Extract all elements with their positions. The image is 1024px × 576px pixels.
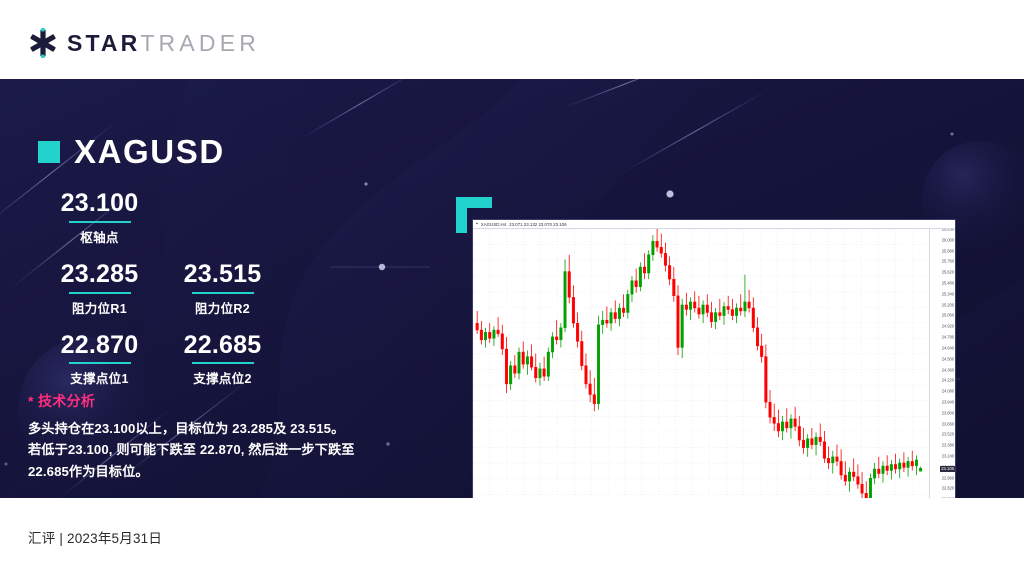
- y-axis-tick: 22.820: [942, 486, 954, 491]
- s2-value: 22.685: [161, 331, 284, 360]
- symbol-heading: XAGUSD: [38, 135, 225, 168]
- y-axis-tick: 24.920: [942, 324, 954, 329]
- y-axis-tick: 25.480: [942, 281, 954, 286]
- y-axis-tick: 24.080: [942, 389, 954, 394]
- analysis-line-3: 22.685作为目标位。: [28, 461, 428, 482]
- chart-ohlc-label: 23.071 23.132 23.070 23.106: [509, 222, 566, 227]
- y-axis-tick: 23.240: [942, 453, 954, 458]
- analysis-line-1: 多头持仓在23.100以上，目标位为 23.285及 23.515。: [28, 418, 428, 439]
- y-axis-tick: 24.780: [942, 335, 954, 340]
- pivot-levels-grid: 23.100 枢轴点 23.285 阻力位R1 23.515 阻力位R2: [38, 189, 328, 401]
- level-support-1: 22.870 支撑点位1: [38, 331, 161, 388]
- level-support-2: 22.685 支撑点位2: [161, 331, 284, 388]
- level-resistance-1: 23.285 阻力位R1: [38, 260, 161, 317]
- y-axis-tick: 24.360: [942, 367, 954, 372]
- chart-plot-area[interactable]: [473, 229, 929, 498]
- brand-wordmark: STARTRADER: [67, 32, 260, 55]
- footer-caption: 汇评 | 2023年5月31日: [28, 527, 162, 547]
- page-header: STARTRADER: [0, 0, 1024, 79]
- y-axis-tick: 26.250: [942, 229, 954, 232]
- page-footer: 汇评 | 2023年5月31日: [0, 498, 1024, 576]
- r2-underline: [192, 292, 254, 294]
- y-axis-tick: 24.220: [942, 378, 954, 383]
- brand-name-primary: STAR: [67, 30, 140, 56]
- chart-symbol-label: XAGUSD,H4: [481, 222, 506, 227]
- brand-logo[interactable]: STARTRADER: [28, 28, 260, 58]
- y-axis-tick: 24.640: [942, 345, 954, 350]
- y-axis-tick: 23.660: [942, 421, 954, 426]
- y-axis-tick: 23.520: [942, 432, 954, 437]
- page-title: XAGUSD: [74, 135, 225, 168]
- s2-label: 支撑点位2: [161, 368, 284, 387]
- technical-analysis-block: * 技术分析 多头持仓在23.100以上，目标位为 23.285及 23.515…: [28, 391, 428, 482]
- chart-window[interactable]: ▪ XAGUSD,H4 23.071 23.132 23.070 23.106 …: [472, 219, 956, 498]
- r1-value: 23.285: [38, 260, 161, 289]
- pivot-row: 23.100 枢轴点: [38, 189, 328, 260]
- level-resistance-2: 23.515 阻力位R2: [161, 260, 284, 317]
- y-axis-tick: 23.940: [942, 399, 954, 404]
- current-price-tag: 23.106: [940, 466, 955, 472]
- y-axis-tick: 25.880: [942, 248, 954, 253]
- y-axis-tick: 22.960: [942, 475, 954, 480]
- pivot-label: 枢轴点: [38, 227, 161, 246]
- pivot-underline: [69, 221, 131, 223]
- asterisk-star-icon: [28, 28, 58, 58]
- chart-bullet-icon: ▪: [476, 222, 478, 227]
- y-axis-tick: 25.060: [942, 313, 954, 318]
- technical-analysis-title: * 技术分析: [28, 391, 428, 411]
- symbol-marker-square: [38, 141, 60, 163]
- y-axis-tick: 25.340: [942, 291, 954, 296]
- candlestick-series: [473, 229, 929, 498]
- y-axis-tick: 25.760: [942, 259, 954, 264]
- r1-label: 阻力位R1: [38, 298, 161, 317]
- y-axis-tick: 23.800: [942, 410, 954, 415]
- s2-underline: [192, 362, 254, 364]
- y-axis-tick: 25.200: [942, 302, 954, 307]
- brand-name-secondary: TRADER: [140, 30, 260, 56]
- y-axis-tick: 26.000: [942, 237, 954, 242]
- main-panel: XAGUSD 23.100 枢轴点 23.285 阻力位R1 23.515: [0, 79, 1024, 498]
- technical-analysis-body: 多头持仓在23.100以上，目标位为 23.285及 23.515。 若低于23…: [28, 418, 428, 482]
- y-axis-tick: 24.500: [942, 356, 954, 361]
- chart-titlebar: ▪ XAGUSD,H4 23.071 23.132 23.070 23.106: [473, 220, 955, 229]
- r2-label: 阻力位R2: [161, 298, 284, 317]
- level-pivot: 23.100 枢轴点: [38, 189, 161, 246]
- y-axis-tick: 25.620: [942, 270, 954, 275]
- analysis-line-2: 若低于23.100, 则可能下跌至 22.870, 然后进一步下跌至: [28, 439, 428, 460]
- s1-value: 22.870: [38, 331, 161, 360]
- y-axis-tick: 23.380: [942, 443, 954, 448]
- chart-price-axis[interactable]: 26.25026.00025.88025.76025.62025.48025.3…: [929, 229, 955, 498]
- resistance-row: 23.285 阻力位R1 23.515 阻力位R2: [38, 260, 328, 331]
- poster-root: STARTRADER: [0, 0, 1024, 576]
- pivot-value: 23.100: [38, 189, 161, 218]
- s1-label: 支撑点位1: [38, 368, 161, 387]
- s1-underline: [69, 362, 131, 364]
- r2-value: 23.515: [161, 260, 284, 289]
- r1-underline: [69, 292, 131, 294]
